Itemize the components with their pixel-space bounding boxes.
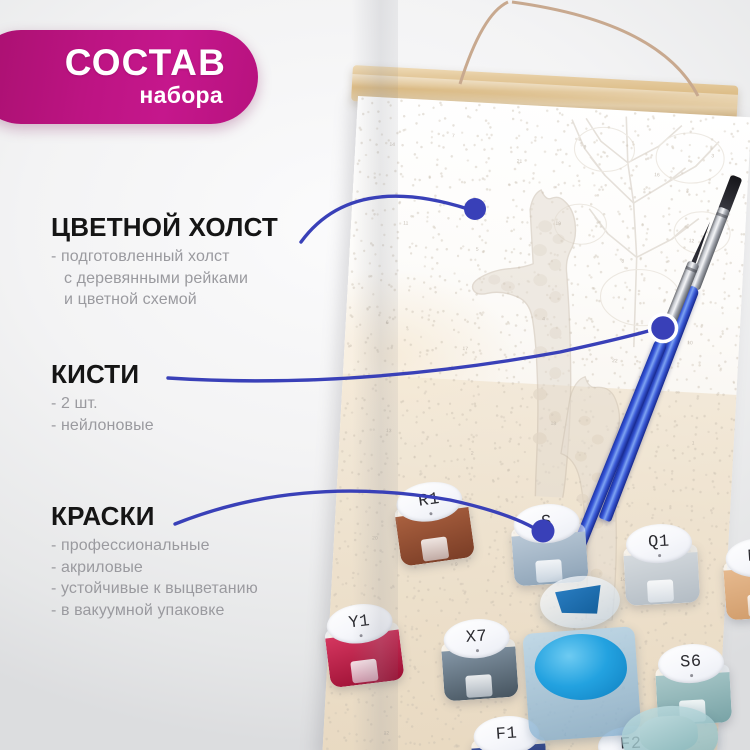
badge-title-line2: набора <box>139 82 223 109</box>
poster-canvas: 14721 9163 11519 812 6174 2210 13218 151… <box>0 0 750 750</box>
connector-dot-brushes <box>650 315 677 342</box>
feature-heading-brushes: КИСТИ <box>51 361 154 388</box>
feature-bullets-canvas: - подготовленный холст с деревянными рей… <box>51 246 278 311</box>
feature-block-paints: КРАСКИ - профессиональные - акриловые - … <box>51 503 258 621</box>
section-badge: СОСТАВ набора <box>0 30 258 124</box>
connector-dot-paints <box>532 520 555 543</box>
bullet-item: с деревянными рейками <box>51 268 278 290</box>
feature-heading-paints: КРАСКИ <box>51 503 258 530</box>
bullet-item: - акриловые <box>51 557 258 579</box>
feature-block-brushes: КИСТИ - 2 шт. - нейлоновые <box>51 361 154 436</box>
feature-bullets-paints: - профессиональные - акриловые - устойчи… <box>51 535 258 621</box>
bullet-item: - 2 шт. <box>51 393 154 415</box>
connector-canvas <box>301 196 468 242</box>
badge-title-line1: СОСТАВ <box>65 45 226 82</box>
bullet-item: - в вакуумной упаковке <box>51 600 258 622</box>
bullet-item: - устойчивые к выцветанию <box>51 578 258 600</box>
bullet-item: - профессиональные <box>51 535 258 557</box>
bullet-item: и цветной схемой <box>51 289 278 311</box>
bullet-item: - нейлоновые <box>51 415 154 437</box>
feature-heading-canvas: ЦВЕТНОЙ ХОЛСТ <box>51 214 278 241</box>
bullet-item: - подготовленный холст <box>51 246 278 268</box>
connector-dot-canvas <box>464 198 486 220</box>
feature-block-canvas: ЦВЕТНОЙ ХОЛСТ - подготовленный холст с д… <box>51 214 278 311</box>
connector-brushes <box>168 330 652 381</box>
feature-bullets-brushes: - 2 шт. - нейлоновые <box>51 393 154 436</box>
